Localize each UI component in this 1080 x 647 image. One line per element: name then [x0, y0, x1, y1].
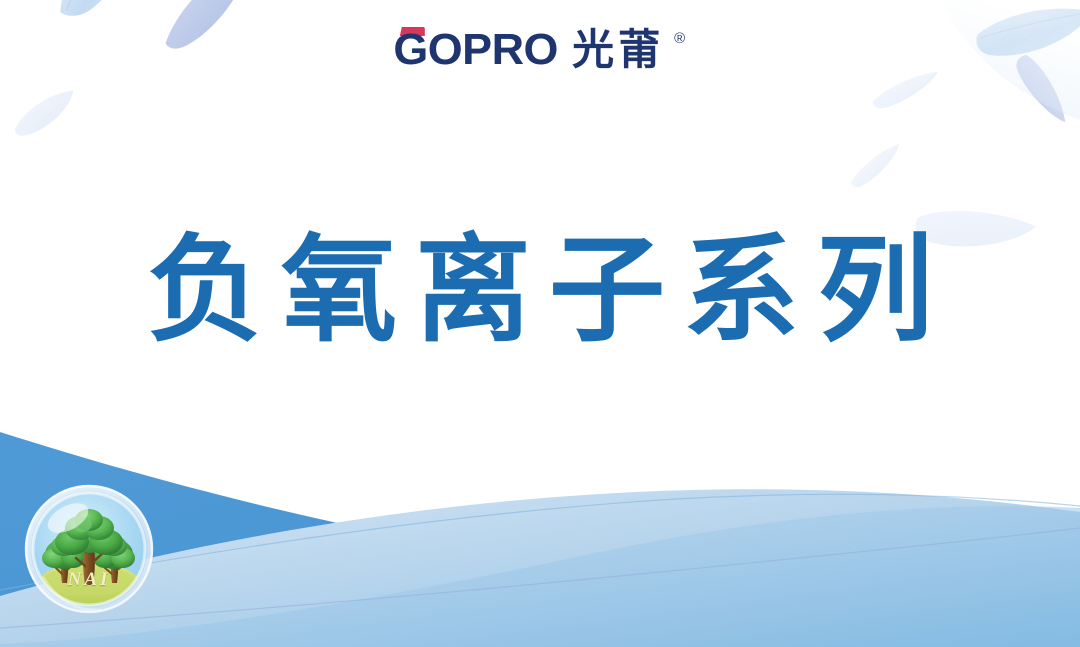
brand-logo: GOPRO 光莆 ®	[0, 28, 1080, 72]
nai-badge: NAI	[22, 482, 156, 616]
poster-canvas: GOPRO 光莆 ® 负氧离子系列	[0, 0, 1080, 647]
page-title: 负氧离子系列	[0, 232, 1080, 348]
brand-latin-text: GOPRO	[393, 28, 558, 72]
brand-latin-wordmark: GOPRO	[395, 28, 556, 72]
registered-trademark-icon: ®	[674, 30, 685, 47]
brand-chinese-text: 光莆	[572, 30, 664, 72]
nai-bubble-artwork	[22, 482, 156, 616]
